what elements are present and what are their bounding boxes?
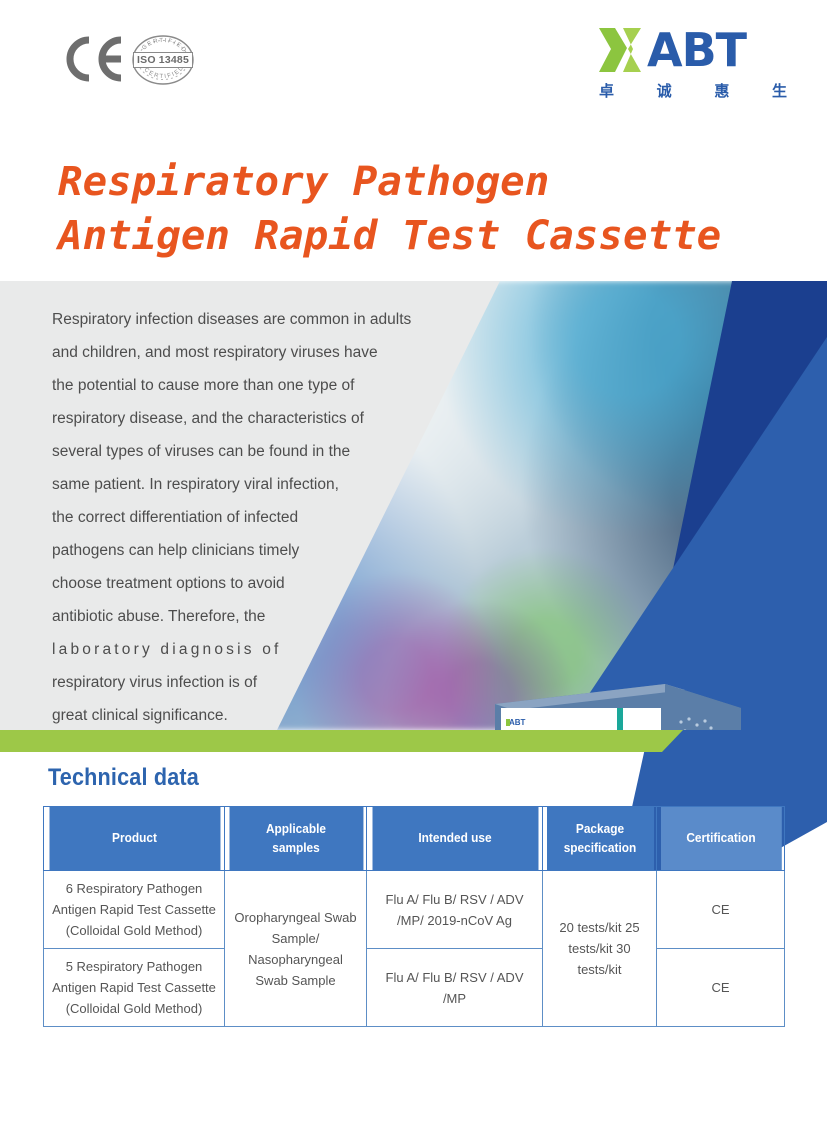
ce-mark-icon bbox=[63, 36, 123, 82]
cell-intended-use-row2: Flu A/ Flu B/ RSV / ADV /MP bbox=[367, 949, 543, 1027]
table-header-samples-l2: samples bbox=[272, 841, 320, 855]
cell-product-row1: 6 Respiratory Pathogen Antigen Rapid Tes… bbox=[44, 871, 225, 949]
abt-logo: ABT 卓 诚 惠 生 bbox=[597, 26, 787, 102]
intro-line-3: the potential to cause more than one typ… bbox=[52, 369, 462, 402]
page-header: CERTIFIED CERTIFIED ISO 13485 ABT 卓 诚 惠 … bbox=[0, 0, 827, 140]
table-header-package-specification: Package specification bbox=[545, 807, 653, 871]
table-header-applicable-samples: Applicable samples bbox=[228, 807, 363, 871]
iso-13485-badge-icon: CERTIFIED CERTIFIED ISO 13485 bbox=[128, 34, 198, 86]
table-header-package-l2: specification bbox=[563, 841, 636, 855]
table-row: 6 Respiratory Pathogen Antigen Rapid Tes… bbox=[44, 871, 785, 949]
intro-line-5: several types of viruses can be found in… bbox=[52, 435, 462, 468]
page-title-line-1: Respiratory Pathogen bbox=[58, 155, 772, 209]
hero-banner: ABT More Diagnosable, More Healthy www.a… bbox=[0, 281, 827, 730]
abt-cn-char-4: 生 bbox=[772, 80, 787, 101]
cell-samples-merged: Oropharyngeal Swab Sample/ Nasopharyngea… bbox=[225, 871, 367, 1027]
cell-product-row2: 5 Respiratory Pathogen Antigen Rapid Tes… bbox=[44, 949, 225, 1027]
table-header-product: Product bbox=[48, 807, 220, 871]
table-header-certification: Certification bbox=[660, 807, 782, 871]
table-header-row: Product Applicable samples Intended use … bbox=[44, 807, 785, 871]
abt-cn-char-1: 卓 bbox=[599, 80, 614, 101]
technical-data-table: Product Applicable samples Intended use … bbox=[43, 806, 785, 1027]
table-header-intended-use: Intended use bbox=[371, 807, 538, 871]
abt-cn-char-2: 诚 bbox=[657, 80, 672, 101]
page-title: Respiratory Pathogen Antigen Rapid Test … bbox=[58, 155, 772, 263]
intro-line-2: and children, and most respiratory virus… bbox=[52, 336, 462, 369]
abt-cn-char-3: 惠 bbox=[714, 80, 729, 101]
cell-package-merged: 20 tests/kit 25 tests/kit 30 tests/kit bbox=[543, 871, 657, 1027]
abt-chinese-name: 卓 诚 惠 生 bbox=[599, 80, 787, 101]
intro-line-1: Respiratory infection diseases are commo… bbox=[52, 303, 462, 336]
table-header-package-l1: Package bbox=[575, 822, 623, 836]
table-header-certification-l1: Certification bbox=[686, 831, 755, 845]
technical-data-heading: Technical data bbox=[48, 764, 199, 792]
iso-badge-number: ISO 13485 bbox=[133, 52, 193, 68]
cell-intended-use-row1: Flu A/ Flu B/ RSV / ADV /MP/ 2019-nCoV A… bbox=[367, 871, 543, 949]
intro-line-4: respiratory disease, and the characteris… bbox=[52, 402, 462, 435]
product-box-large: ABT More Diagnosable, More Healthy www.a… bbox=[489, 678, 742, 730]
abt-wordmark: ABT bbox=[647, 24, 746, 76]
table-header-intended-use-l1: Intended use bbox=[418, 831, 491, 845]
table-header-product-l1: Product bbox=[112, 831, 157, 845]
svg-text:ABT: ABT bbox=[509, 718, 526, 727]
abt-logo-x-icon bbox=[597, 26, 647, 74]
table-header-samples-l1: Applicable bbox=[265, 822, 325, 836]
page-title-line-2: Antigen Rapid Test Cassette bbox=[58, 209, 772, 263]
table-row: 5 Respiratory Pathogen Antigen Rapid Tes… bbox=[44, 949, 785, 1027]
cell-certification-row1: CE bbox=[657, 871, 785, 949]
cell-certification-row2: CE bbox=[657, 949, 785, 1027]
